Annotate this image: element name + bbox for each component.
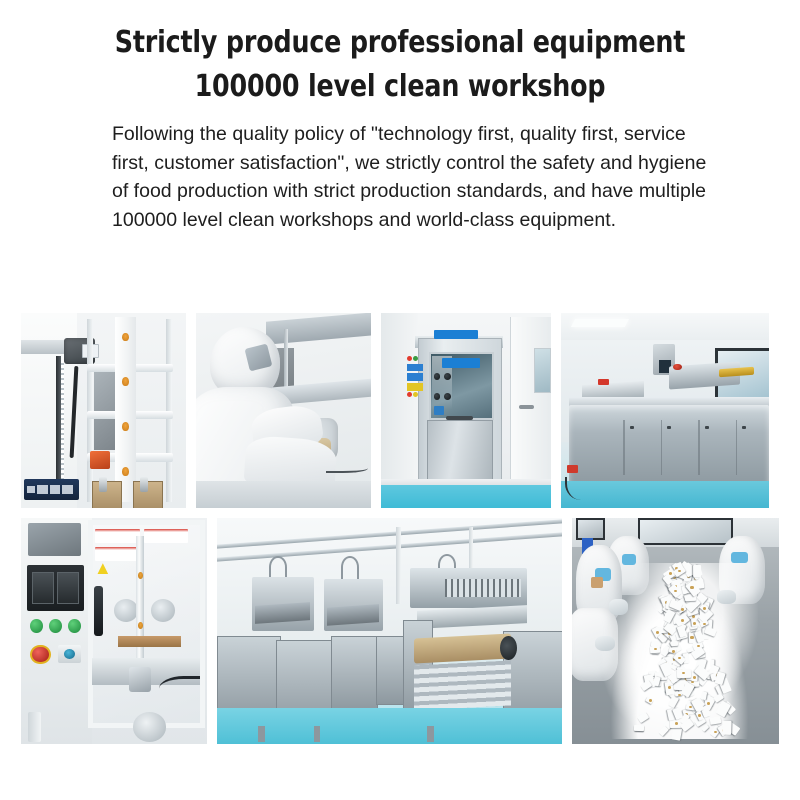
photo-air-shower-door[interactable]	[381, 313, 551, 508]
ceiling-light	[571, 319, 629, 327]
photo-cleanroom-operator[interactable]	[196, 313, 371, 508]
clamp-2	[140, 477, 148, 493]
sachet-pile	[601, 563, 758, 739]
red-valve	[567, 465, 577, 473]
cabinet-door-2	[661, 420, 662, 475]
cyan-epoxy-floor	[561, 481, 769, 508]
cabinet-handle-4	[742, 426, 746, 429]
temperature-controllers	[27, 565, 85, 610]
air-shower-sign-inner	[442, 358, 479, 368]
face-mask-3	[731, 552, 748, 563]
film-tube	[136, 536, 143, 676]
product-drop-1	[138, 572, 143, 579]
base-cabinet-3	[331, 636, 378, 713]
feed-hook-1	[269, 556, 287, 578]
gloved-hand-1	[609, 599, 628, 615]
sachet	[693, 565, 701, 577]
sachet-print	[690, 636, 693, 639]
red-fitting	[598, 379, 608, 385]
indicator-red	[407, 356, 412, 361]
emergency-stop-button[interactable]	[673, 364, 681, 371]
hmi-screen	[28, 523, 80, 557]
door-handle	[519, 405, 534, 410]
photo-blister-line[interactable]	[561, 313, 769, 508]
cabinet-door-4	[736, 420, 737, 475]
product-drop-2	[138, 622, 143, 629]
discharge-flange	[133, 712, 166, 741]
cabinet-door-3	[698, 420, 699, 475]
forming-tray-1	[255, 602, 310, 624]
nameplate-text-1	[37, 485, 48, 494]
clean-workshop-promo-page: Strictly produce professional equipment …	[0, 0, 800, 800]
product-drop-1	[122, 333, 129, 342]
product-drop-2	[122, 377, 129, 386]
perforated-rail	[61, 360, 64, 481]
machine-cabinet	[569, 405, 769, 483]
nameplate-text-3	[62, 485, 73, 494]
dosing-rods	[445, 579, 521, 597]
machine-foot-3	[427, 726, 434, 742]
actuator-motor	[129, 667, 151, 692]
cabinet-door-1	[623, 420, 624, 475]
controller-display-2	[57, 572, 79, 604]
floor	[196, 481, 371, 508]
mould-roller	[414, 633, 511, 663]
product-drop-3	[122, 422, 129, 431]
intro-text-block: Strictly produce professional equipment …	[0, 0, 800, 234]
sachet-print	[678, 694, 681, 697]
support-column-1	[396, 527, 400, 604]
sachet-print	[707, 702, 710, 705]
corridor-wall	[381, 313, 418, 492]
photo-gallery	[0, 313, 800, 744]
nameplate-text-2	[50, 485, 61, 494]
warning-label-2	[144, 529, 189, 543]
gloved-hand-3	[717, 590, 736, 604]
sachet-print	[669, 572, 672, 575]
page-title-line-1: Strictly produce professional equipment	[80, 26, 719, 60]
air-nozzle-3	[434, 393, 441, 400]
collection-bin-1	[92, 481, 122, 508]
green-button-2[interactable]	[49, 619, 62, 633]
cabin-control-box	[434, 406, 444, 416]
sachet-print	[649, 699, 652, 702]
cyan-epoxy-floor	[217, 708, 562, 744]
floor-cable	[326, 465, 368, 473]
sachet-print	[656, 631, 659, 634]
photo-control-panel[interactable]	[21, 518, 207, 744]
push-button-row[interactable]	[27, 615, 85, 638]
warning-label-1	[95, 529, 140, 543]
cabinet-handle-1	[630, 426, 634, 429]
green-button-1[interactable]	[30, 619, 43, 633]
cooling-slats	[414, 660, 511, 710]
air-shower-sign-top	[434, 330, 478, 340]
cabinet-handle-3	[705, 426, 709, 429]
sachet-print	[698, 714, 701, 717]
wall-label-3	[407, 383, 422, 391]
sachet	[634, 725, 644, 732]
sachet-print	[690, 586, 693, 589]
machine-foot-1	[258, 726, 265, 742]
sachet-print	[668, 686, 671, 689]
warning-label-3	[95, 547, 140, 561]
forming-tray-2	[327, 604, 379, 626]
orange-valve	[90, 451, 110, 469]
product-drop-4	[122, 467, 129, 476]
cabin-door-handle	[446, 416, 473, 420]
air-hose	[159, 676, 200, 697]
photo-production-line[interactable]	[217, 518, 562, 744]
sachet	[722, 721, 732, 735]
collection-bin-2	[133, 481, 163, 508]
gallery-row-top	[0, 313, 800, 508]
wall-frame-large	[638, 518, 733, 545]
sachet-print	[681, 619, 684, 622]
wall-label-2	[407, 373, 422, 381]
sachet	[671, 641, 678, 646]
photo-packing-machine[interactable]	[21, 313, 186, 508]
feed-hook-2	[341, 556, 359, 578]
cyan-epoxy-floor	[381, 485, 551, 508]
sachet	[701, 724, 709, 732]
photo-sorting-workers[interactable]	[572, 518, 779, 744]
page-description: Following the quality policy of "technol…	[112, 120, 712, 234]
air-nozzle-4	[444, 393, 451, 400]
sealing-jaws	[118, 636, 181, 647]
clamp-1	[99, 477, 107, 493]
upper-shelf	[266, 313, 371, 345]
wall-label-1	[407, 364, 422, 372]
sachet	[709, 716, 721, 725]
side-door	[510, 317, 551, 485]
brand-nameplate	[24, 479, 78, 500]
emergency-stop-button[interactable]	[30, 645, 51, 665]
sachet	[637, 712, 649, 723]
wall-frame-small	[576, 518, 605, 540]
gloved-hand-2	[595, 636, 616, 652]
indicator-red-2	[407, 392, 412, 397]
page-title-line-2: 100000 level clean workshop	[80, 70, 719, 104]
sachet-print	[693, 622, 696, 625]
cabinet-handle-2	[667, 426, 671, 429]
logo-mark	[27, 486, 35, 493]
gallery-row-bottom	[0, 518, 800, 744]
sachet-print	[675, 722, 678, 725]
controller-display-1	[32, 572, 54, 604]
door-window	[534, 348, 551, 393]
sachet-print	[672, 650, 675, 653]
black-cylinder	[94, 586, 103, 636]
forming-wheel-1	[114, 599, 138, 622]
green-button-3[interactable]	[68, 619, 81, 633]
machine-foot-2	[314, 726, 321, 742]
support-cylinder	[28, 712, 41, 741]
air-nozzle-2	[444, 373, 451, 380]
